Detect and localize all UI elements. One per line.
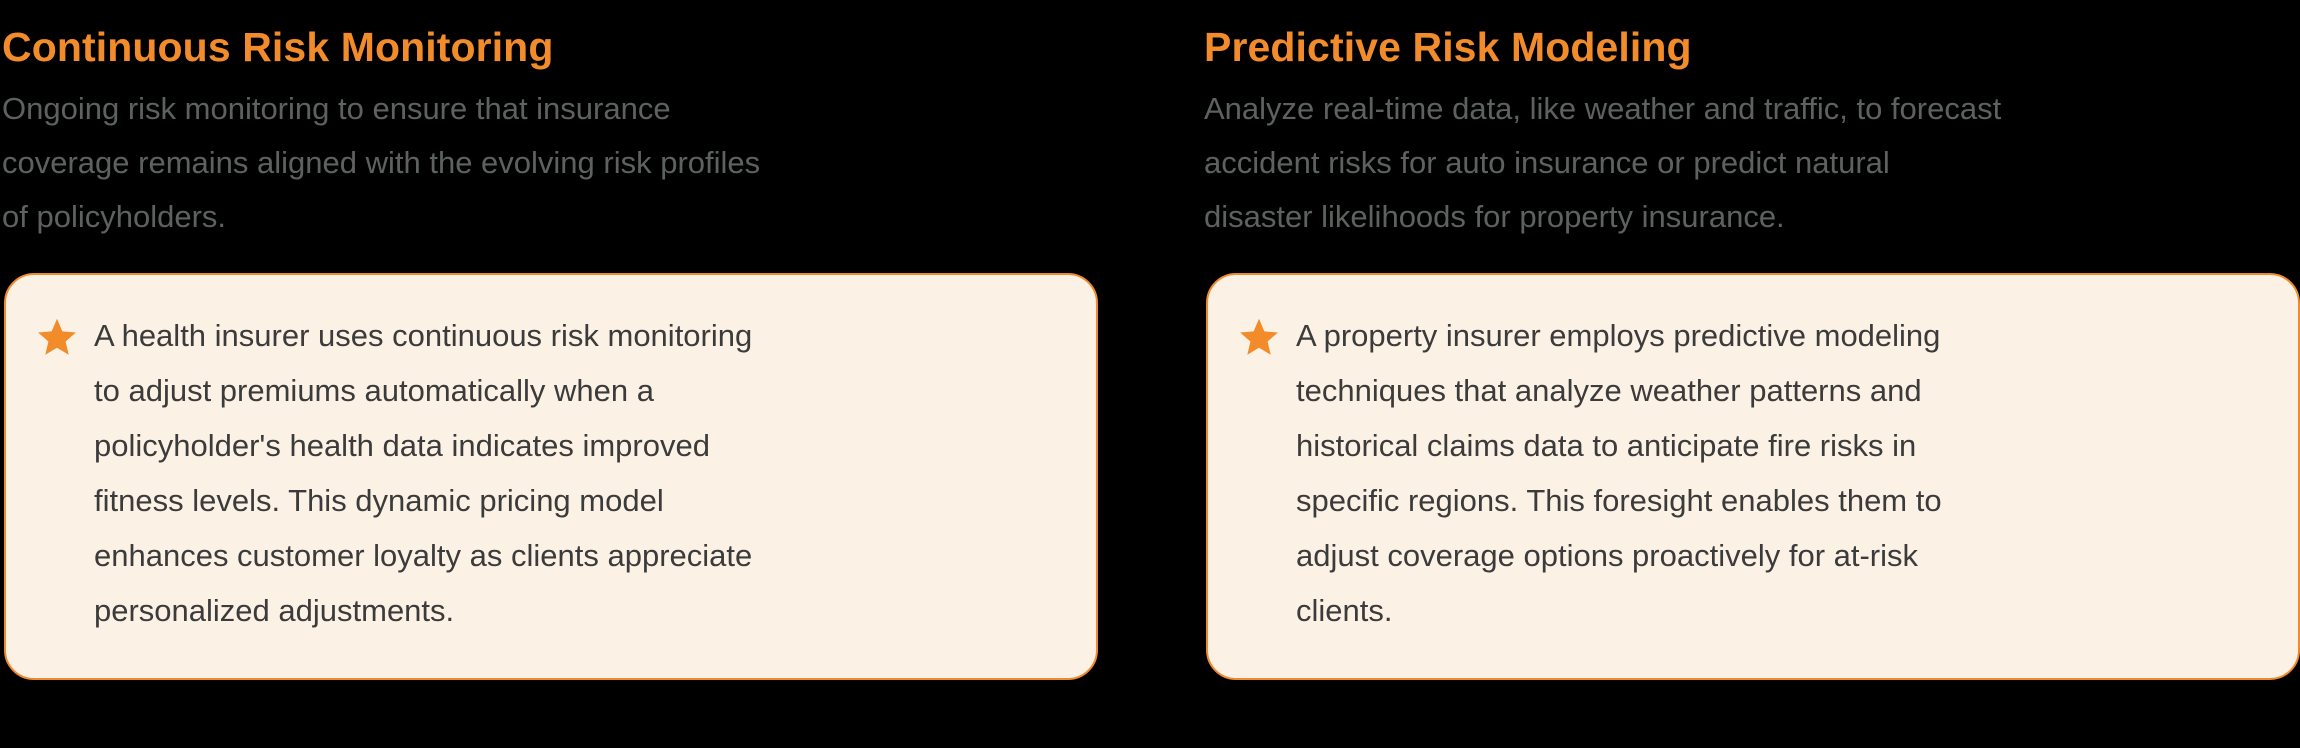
example-card-text: A health insurer uses continuous risk mo… [94, 308, 1066, 638]
example-card-text: A property insurer employs predictive mo… [1296, 308, 2268, 638]
star-icon [36, 316, 78, 360]
columns-container: Continuous Risk Monitoring Ongoing risk … [0, 0, 2300, 748]
example-card: A health insurer uses continuous risk mo… [4, 273, 1098, 680]
card-text-line: policyholder's health data indicates imp… [94, 418, 1066, 473]
description-line: coverage remains aligned with the evolvi… [2, 136, 1042, 190]
card-text-line: specific regions. This foresight enables… [1296, 473, 2268, 528]
card-text-line: fitness levels. This dynamic pricing mod… [94, 473, 1066, 528]
column-continuous-risk-monitoring: Continuous Risk Monitoring Ongoing risk … [0, 0, 1098, 748]
column-predictive-risk-modeling: Predictive Risk Modeling Analyze real-ti… [1202, 0, 2300, 748]
example-card: A property insurer employs predictive mo… [1206, 273, 2300, 680]
card-text-line: historical claims data to anticipate fir… [1296, 418, 2268, 473]
description-line: disaster likelihoods for property insura… [1204, 190, 2244, 244]
card-text-line: A health insurer uses continuous risk mo… [94, 308, 1066, 363]
description-line: Ongoing risk monitoring to ensure that i… [2, 82, 1042, 136]
description-line: accident risks for auto insurance or pre… [1204, 136, 2244, 190]
card-text-line: adjust coverage options proactively for … [1296, 528, 2268, 583]
column-heading: Predictive Risk Modeling [1202, 0, 2300, 69]
card-text-line: personalized adjustments. [94, 583, 1066, 638]
column-description: Analyze real-time data, like weather and… [1202, 69, 2244, 244]
card-text-line: clients. [1296, 583, 2268, 638]
column-heading: Continuous Risk Monitoring [0, 0, 1098, 69]
card-text-line: A property insurer employs predictive mo… [1296, 308, 2268, 363]
card-text-line: techniques that analyze weather patterns… [1296, 363, 2268, 418]
description-line: Analyze real-time data, like weather and… [1204, 82, 2244, 136]
risk-comparison-board: Continuous Risk Monitoring Ongoing risk … [0, 0, 2300, 748]
card-text-line: enhances customer loyalty as clients app… [94, 528, 1066, 583]
column-description: Ongoing risk monitoring to ensure that i… [0, 69, 1042, 244]
star-icon [1238, 316, 1280, 360]
card-text-line: to adjust premiums automatically when a [94, 363, 1066, 418]
description-line: of policyholders. [2, 190, 1042, 244]
